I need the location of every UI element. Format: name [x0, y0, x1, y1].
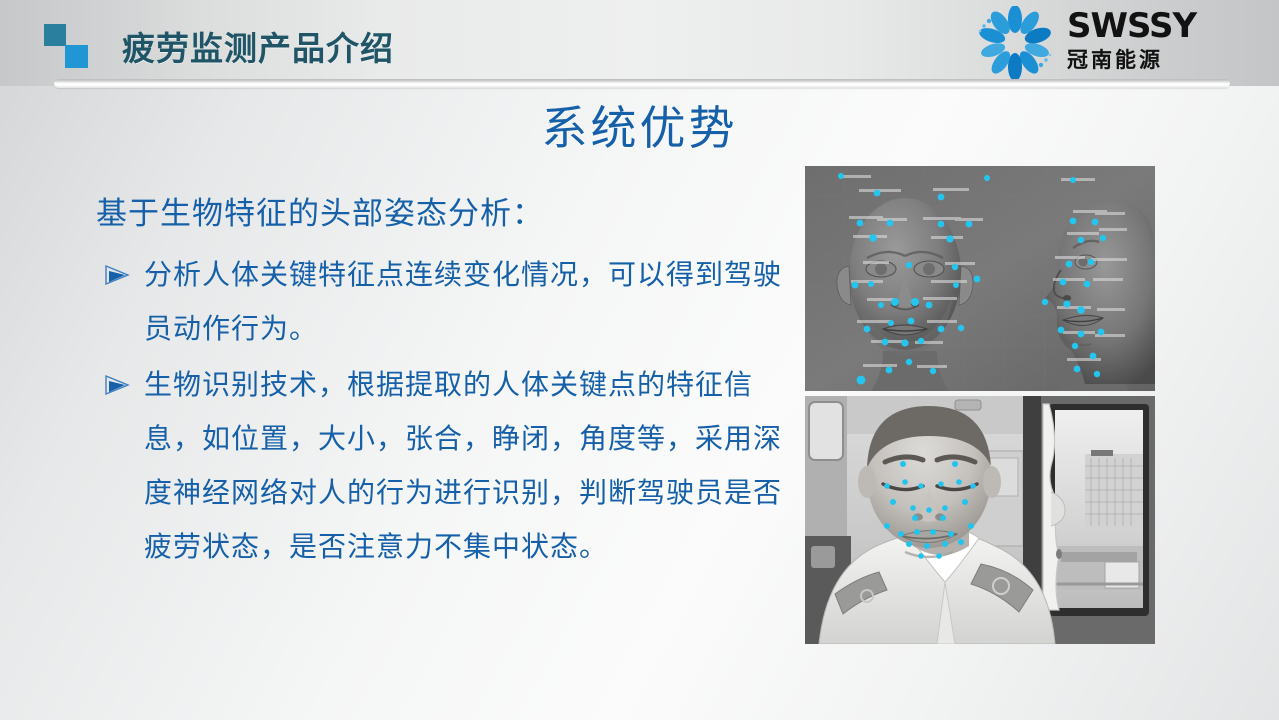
header-divider [54, 79, 1230, 88]
page-title: 系统优势 [0, 92, 1279, 158]
lead-statement: 基于生物特征的头部姿态分析： [96, 192, 786, 236]
flower-petal-logo-icon [969, 6, 1061, 80]
logo-name: SWSSY [1067, 8, 1217, 44]
list-item: 分析人体关键特征点连续变化情况，可以得到驾驶员动作行为。 [96, 248, 786, 356]
header-title: 疲劳监测产品介绍 [122, 22, 394, 70]
content-column: 基于生物特征的头部姿态分析： 分析人体关键特征点连续变化情况，可以得到驾驶员动作… [96, 192, 786, 576]
square-decoration-light-icon [65, 45, 88, 68]
face-landmark-model-image [805, 166, 1155, 391]
header-square-decoration [44, 24, 90, 68]
company-logo: SWSSY 冠南能源 [969, 4, 1217, 80]
logo-subtitle: 冠南能源 [1067, 46, 1217, 74]
bullet-list: 分析人体关键特征点连续变化情况，可以得到驾驶员动作行为。 生物识别技术，根据提取… [96, 248, 786, 574]
list-item-label: 生物识别技术，根据提取的人体关键点的特征信息，如位置，大小，张合，睁闭，角度等，… [144, 368, 782, 563]
arrow-bullet-icon [104, 264, 130, 286]
slide-header: 疲劳监测产品介绍 [0, 0, 1279, 86]
slide-canvas: 疲劳监测产品介绍 [0, 0, 1279, 720]
driver-monitoring-image [805, 396, 1155, 644]
logo-text-block: SWSSY 冠南能源 [1067, 8, 1217, 74]
list-item: 生物识别技术，根据提取的人体关键点的特征信息，如位置，大小，张合，睁闭，角度等，… [96, 358, 786, 574]
list-item-label: 分析人体关键特征点连续变化情况，可以得到驾驶员动作行为。 [144, 258, 782, 345]
square-decoration-dark-icon [44, 24, 66, 46]
arrow-bullet-icon [104, 374, 130, 396]
